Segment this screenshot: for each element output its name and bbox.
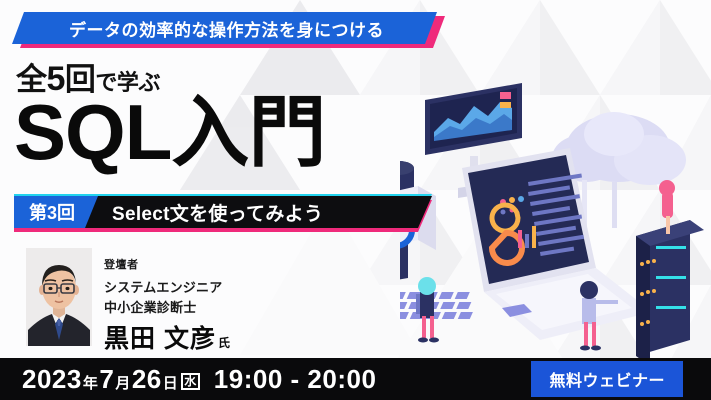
subtitle-bar: 第3回 Select文を使ってみよう bbox=[14, 196, 434, 230]
isometric-illustration bbox=[400, 40, 711, 370]
time-range: 19:00 - 20:00 bbox=[214, 364, 377, 395]
episode-badge: 第3回 bbox=[14, 196, 98, 228]
day-of-week-badge: 水 bbox=[181, 373, 200, 390]
page-title: SQL入門 bbox=[14, 93, 325, 171]
event-datetime: 2023年7月26日水19:00 - 20:00 bbox=[22, 364, 376, 395]
walking-figure-1 bbox=[416, 277, 439, 343]
footer-bar: 2023年7月26日水19:00 - 20:00 無料ウェビナー bbox=[0, 358, 711, 400]
day-unit: 日 bbox=[163, 372, 179, 393]
eyebrow-blue-bar: データの効率的な操作方法を身につける bbox=[12, 12, 437, 44]
eyebrow-text: データの効率的な操作方法を身につける bbox=[65, 16, 384, 41]
year-unit: 年 bbox=[83, 372, 99, 393]
speaker-title-line1: システムエンジニア bbox=[104, 277, 230, 296]
subtitle-black-bar: 第3回 Select文を使ってみよう bbox=[14, 196, 432, 228]
speaker-title-line2: 中小企業診断士 bbox=[104, 297, 230, 316]
month-unit: 月 bbox=[115, 372, 131, 393]
month-value: 7 bbox=[99, 364, 114, 395]
year-value: 2023 bbox=[22, 364, 82, 395]
subtitle-text: Select文を使ってみよう bbox=[112, 199, 323, 226]
speaker-role-label: 登壇者 bbox=[104, 256, 230, 272]
server-rack bbox=[636, 180, 704, 366]
avatar bbox=[26, 248, 92, 346]
speaker-name: 黒田 文彦 bbox=[104, 319, 216, 355]
speaker-info: 登壇者 システムエンジニア 中小企業診断士 黒田 文彦 氏 bbox=[104, 248, 230, 355]
speaker-name-suffix: 氏 bbox=[218, 334, 230, 351]
speaker-block: 登壇者 システムエンジニア 中小企業診断士 黒田 文彦 氏 bbox=[26, 248, 230, 355]
speaker-name-row: 黒田 文彦 氏 bbox=[104, 319, 230, 355]
free-webinar-badge[interactable]: 無料ウェビナー bbox=[531, 361, 683, 397]
workstation-left bbox=[400, 236, 408, 322]
webinar-banner: データの効率的な操作方法を身につける 全5回で学ぶ SQL入門 第3回 Sele… bbox=[0, 0, 711, 400]
day-value: 26 bbox=[132, 364, 162, 395]
